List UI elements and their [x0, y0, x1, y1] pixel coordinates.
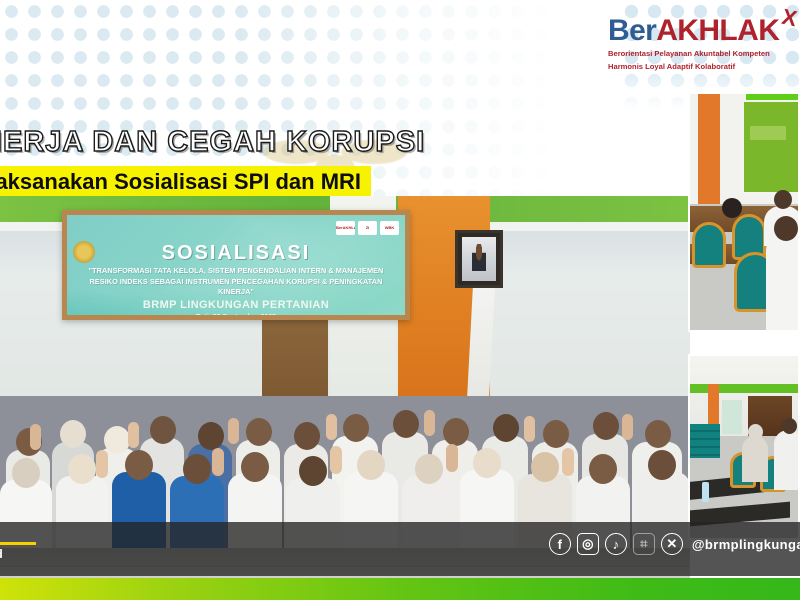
raised-hand — [30, 424, 41, 450]
footer-website: go.id — [0, 547, 36, 561]
berakhlak-tagline-line2: Harmonis Loyal Adaptif Kolaboratif — [608, 62, 794, 72]
side-photo-seminar-hall — [688, 354, 800, 540]
raised-hand — [212, 448, 224, 476]
banner-logo-wbk: WBK — [380, 221, 399, 235]
side-bottom-stacked-chairs — [690, 424, 720, 458]
banner-title: SOSIALISASI — [67, 242, 405, 265]
berakhlak-wordmark-prefix: Ber — [608, 14, 656, 47]
side-bottom-green-trim — [690, 384, 800, 393]
person-head — [104, 426, 130, 454]
person-head — [443, 418, 469, 446]
side-top-person-head — [774, 190, 792, 209]
instagram-icon[interactable]: ◎ — [577, 533, 599, 555]
person-head — [531, 452, 559, 482]
raised-hand — [524, 416, 535, 442]
footer-divider — [0, 542, 36, 545]
person-head — [150, 416, 176, 444]
berakhlak-logo: BerAKHLAKX Berorientasi Pelayanan Akunta… — [608, 16, 794, 71]
footer-bar: Hati go.id f ◎ ♪ ⌗ ✕ @brmplingkunga — [0, 522, 800, 576]
person-head — [357, 450, 385, 480]
person-head — [198, 422, 224, 450]
page-title: INERJA DAN CEGAH KORUPSI — [0, 128, 392, 157]
side-bottom-person-head — [782, 418, 797, 434]
raised-hand — [562, 448, 574, 476]
side-top-person-head — [722, 198, 742, 218]
side-photo-meeting-room — [688, 92, 800, 332]
side-bottom-person — [742, 436, 768, 482]
photo-framed-portrait — [455, 230, 503, 288]
person-head — [68, 454, 96, 484]
side-top-chair — [692, 222, 726, 268]
banner-logo-zi: ZI — [358, 221, 377, 235]
threads-icon[interactable]: ⌗ — [633, 533, 655, 555]
social-links[interactable]: f ◎ ♪ ⌗ ✕ @brmplingkunga — [549, 533, 800, 555]
footer-identity: Hati go.id — [0, 526, 36, 562]
side-top-person — [766, 234, 800, 330]
header-band: BerAKHLAKX Berorientasi Pelayanan Akunta… — [0, 0, 800, 196]
person-head — [543, 420, 569, 448]
bottom-accent-bar — [0, 578, 800, 600]
person-head — [645, 420, 671, 448]
person-head — [183, 454, 211, 484]
social-media-news-card: BerAKHLAKX Berorientasi Pelayanan Akunta… — [0, 0, 800, 600]
side-bottom-person-head — [748, 424, 763, 440]
page-subtitle: Laksanakan Sosialisasi SPI dan MRI — [0, 166, 371, 196]
x-twitter-icon[interactable]: ✕ — [661, 533, 683, 555]
person-head — [493, 414, 519, 442]
raised-hand — [128, 422, 139, 448]
person-head — [299, 456, 327, 486]
berakhlak-wordmark: BerAKHLAKX — [608, 16, 794, 46]
person-head — [589, 454, 617, 484]
raised-hand — [326, 414, 337, 440]
person-head — [593, 412, 619, 440]
raised-hand — [96, 450, 108, 478]
side-bottom-window — [722, 400, 742, 434]
person-head — [12, 458, 40, 488]
person-head — [241, 452, 269, 482]
berakhlak-tagline-line1: Berorientasi Pelayanan Akuntabel Kompete… — [608, 49, 794, 59]
side-bottom-water-bottle — [702, 482, 709, 502]
banner-logo-berakhlak: BerAKHLAK — [336, 221, 355, 235]
side-top-bulletin-board — [742, 100, 800, 194]
facebook-icon[interactable]: f — [549, 533, 571, 555]
person-head — [473, 448, 501, 478]
side-bottom-person — [774, 430, 800, 490]
raised-hand — [446, 444, 458, 472]
side-top-orange-pillar — [698, 94, 720, 204]
side-top-person-head — [774, 216, 798, 241]
tiktok-icon[interactable]: ♪ — [605, 533, 627, 555]
social-handle[interactable]: @brmplingkunga — [692, 537, 800, 552]
person-head — [343, 414, 369, 442]
berakhlak-wordmark-suffix: AKHLAK — [656, 14, 779, 47]
person-head — [294, 422, 320, 450]
page-subtitle-wrap: Laksanakan Sosialisasi SPI dan MRI — [0, 166, 371, 196]
raised-hand — [330, 446, 342, 474]
person-head — [125, 450, 153, 480]
person-head — [60, 420, 86, 448]
footer-tagline: Hati — [0, 526, 36, 540]
raised-hand — [622, 414, 633, 440]
person-head — [246, 418, 272, 446]
raised-hand — [228, 418, 239, 444]
person-head — [393, 410, 419, 438]
person-head — [648, 450, 676, 480]
raised-hand — [424, 410, 435, 436]
banner-logo-row: BerAKHLAK ZI WBK — [336, 221, 399, 235]
person-head — [415, 454, 443, 484]
